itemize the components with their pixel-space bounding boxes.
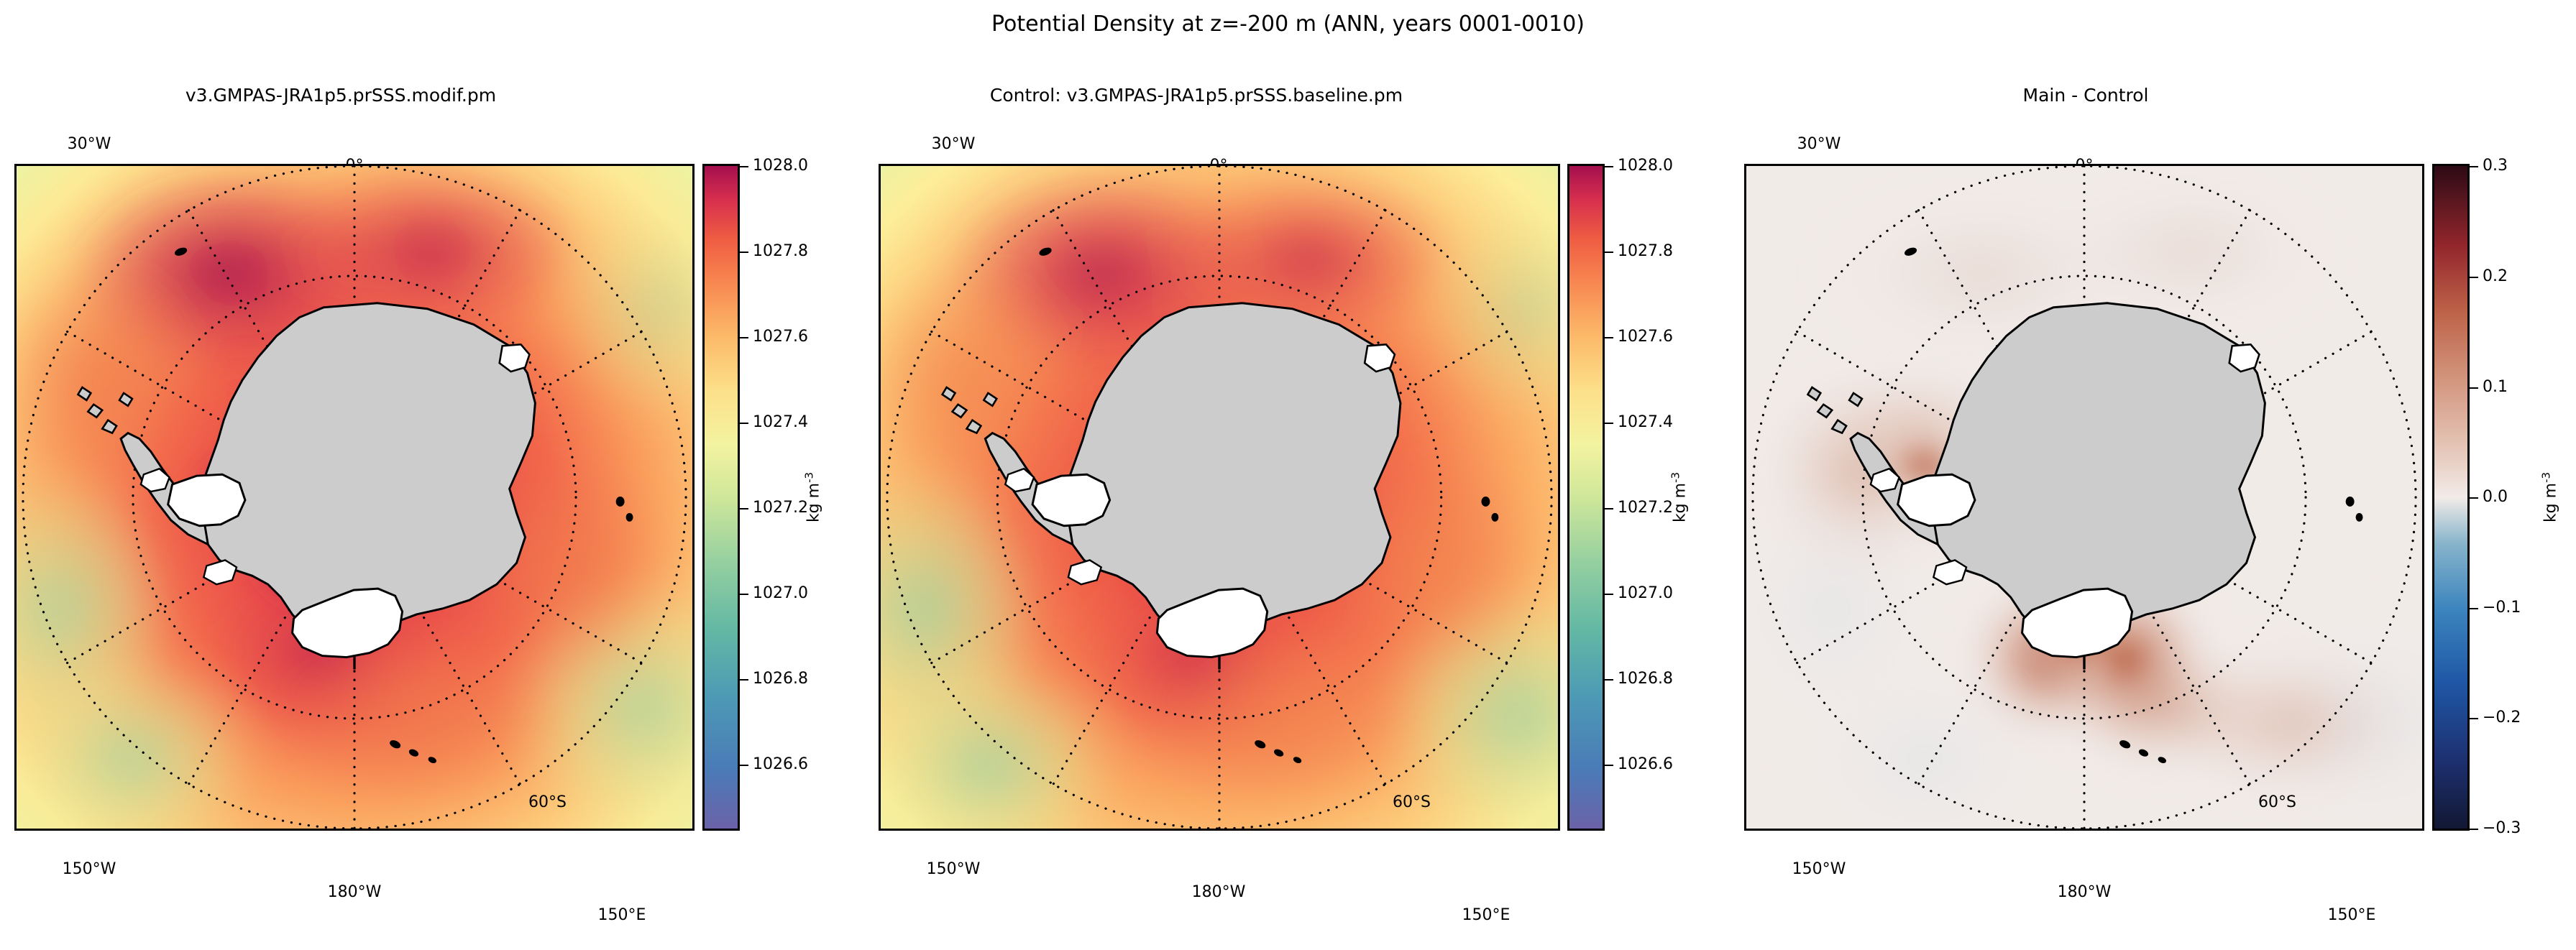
lon-ticks-bottom-control: 150°W 180°W 150°E (879, 835, 1560, 858)
cbar-tick-label: 1027.6 (1618, 329, 1673, 345)
figure-root: Potential Density at z=-200 m (ANN, year… (0, 0, 2576, 893)
lon-label-150w: 150°W (1792, 858, 1846, 881)
cbar-tick-label: −0.1 (2483, 600, 2521, 616)
lon-label-180w: 180°W (1192, 881, 1246, 904)
colorbar-main[interactable]: 1028.0 1027.8 1027.6 1027.4 1027.2 1027.… (702, 164, 825, 831)
lon-ticks-top-main: 30°W 0° 30°E (14, 112, 695, 134)
cbar-tick-label: 1027.4 (753, 415, 808, 430)
colorbar-axis-label-main: kg m-3 (801, 472, 822, 522)
colorbar-gradient-difference (2432, 164, 2470, 831)
map-svg-control (881, 166, 1558, 829)
cbar-tick-label: 1027.6 (753, 329, 808, 345)
panel-title-difference: Main - Control (1743, 83, 2428, 108)
panel-title-main: v3.GMPAS-JRA1p5.prSSS.modif.pm (0, 83, 687, 108)
cbar-unit-exponent: -3 (1669, 472, 1682, 483)
cbar-unit-text: kg m (1672, 483, 1690, 522)
cbar-tick-label: 1027.8 (753, 244, 808, 259)
map-difference[interactable]: 60°S (1744, 164, 2424, 831)
cbar-tick-label: 1027.2 (1618, 500, 1673, 516)
lon-ticks-bottom-main: 150°W 180°W 150°E (14, 835, 695, 858)
cbar-tick-label: 1028.0 (1618, 158, 1673, 174)
cbar-tick-label: 1026.8 (753, 671, 808, 687)
lon-ticks-top-control: 30°W 0° 30°E (879, 112, 1560, 134)
lon-label-30w: 30°W (1797, 134, 1841, 155)
map-svg-difference (1746, 166, 2422, 829)
cbar-unit-exponent: -3 (802, 472, 815, 483)
panel-control: Control: v3.GMPAS-JRA1p5.prSSS.baseline.… (834, 0, 1743, 893)
map-svg-main (17, 166, 692, 829)
cbar-tick-label: 1027.8 (1618, 244, 1673, 259)
amery-shelf-control (1365, 344, 1395, 372)
lon-ticks-bottom-difference: 150°W 180°W 150°E (1744, 835, 2424, 858)
cbar-tick-label: 1027.0 (753, 586, 808, 601)
map-control[interactable]: 60°S (879, 164, 1560, 831)
cbar-tick-label: 1027.4 (1618, 415, 1673, 430)
colorbar-axis-label-difference: kg m-3 (2538, 472, 2559, 522)
lon-label-180w: 180°W (2058, 881, 2112, 904)
lon-label-180w: 180°W (328, 881, 382, 904)
panel-title-control: Control: v3.GMPAS-JRA1p5.prSSS.baseline.… (834, 83, 1559, 108)
cbar-unit-exponent: -3 (2539, 472, 2552, 483)
lon-ticks-top-difference: 30°W 0° 30°E (1744, 112, 2424, 134)
lon-label-150e: 150°E (1462, 904, 1511, 927)
lon-label-150e: 150°E (598, 904, 646, 927)
cbar-tick-label: −0.2 (2483, 710, 2521, 726)
amery-shelf-difference (2229, 344, 2260, 372)
lon-label-150w: 150°W (63, 858, 116, 881)
cbar-tick-label: 0.1 (2483, 379, 2508, 395)
cbar-tick-label: 1026.6 (1618, 757, 1673, 773)
colorbar-difference[interactable]: 0.3 0.2 0.1 0.0 −0.1 −0.2 −0.3 kg m-3 (2432, 164, 2562, 831)
cbar-tick-label: −0.3 (2483, 821, 2521, 836)
cbar-tick-label: 1027.0 (1618, 586, 1673, 601)
filchner-ronne-shelf-control (1032, 474, 1110, 526)
cbar-tick-label: 1026.8 (1618, 671, 1673, 687)
panel-difference: Main - Control 30°W 0° 30°E (1743, 0, 2576, 893)
colorbar-gradient-main (702, 164, 740, 831)
lon-label-150e: 150°E (2328, 904, 2376, 927)
cbar-unit-text: kg m (805, 483, 823, 522)
cbar-unit-text: kg m (2542, 483, 2560, 522)
map-main[interactable]: 60°S (14, 164, 695, 831)
panel-main: v3.GMPAS-JRA1p5.prSSS.modif.pm 30°W 0° 3… (0, 0, 834, 893)
cbar-tick-label: 1028.0 (753, 158, 808, 174)
lon-label-150w: 150°W (927, 858, 981, 881)
filchner-ronne-shelf-difference (1898, 474, 1975, 526)
cbar-tick-label: 0.3 (2483, 158, 2508, 174)
cbar-tick-label: 0.0 (2483, 489, 2508, 505)
filchner-ronne-shelf-main (168, 474, 245, 526)
cbar-tick-label: 1026.6 (753, 757, 808, 773)
lon-label-30w: 30°W (932, 134, 976, 155)
lon-label-30w: 30°W (68, 134, 111, 155)
colorbar-axis-label-control: kg m-3 (1667, 472, 1688, 522)
amery-shelf-main (500, 344, 530, 372)
colorbar-control[interactable]: 1028.0 1027.8 1027.6 1027.4 1027.2 1027.… (1567, 164, 1691, 831)
cbar-tick-label: 1027.2 (753, 500, 808, 516)
colorbar-gradient-control (1567, 164, 1605, 831)
cbar-tick-label: 0.2 (2483, 269, 2508, 285)
